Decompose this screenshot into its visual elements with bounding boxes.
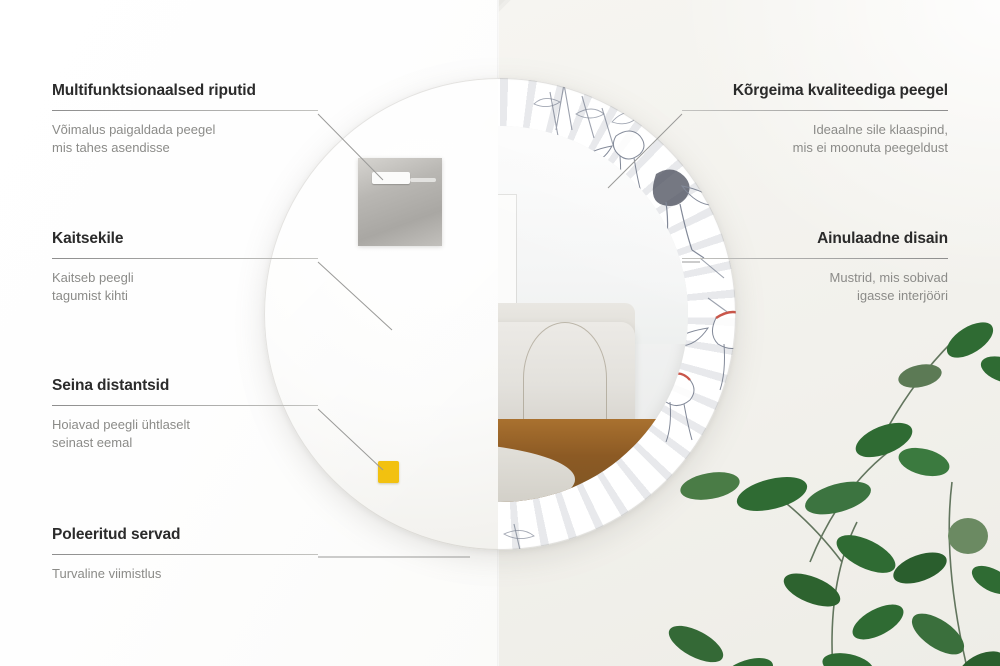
feature-desc-line1: Võimalus paigaldada peegel [52, 121, 318, 139]
feature-kaitsekile: Kaitsekile Kaitseb peegli tagumist kihti [52, 230, 318, 306]
feature-desc-line2: seinast eemal [52, 434, 318, 452]
feature-desc-line2: igasse interjööri [682, 287, 948, 305]
infographic-canvas: Multifunktsionaalsed riputid Võimalus pa… [0, 0, 1000, 666]
feature-rule [52, 110, 318, 111]
feature-title: Poleeritud servad [52, 526, 318, 545]
feature-desc-line1: Mustrid, mis sobivad [682, 269, 948, 287]
feature-desc-line1: Turvaline viimistlus [52, 565, 318, 583]
foliage-decoration [652, 322, 1000, 666]
feature-title: Kõrgeima kvaliteediga peegel [682, 82, 948, 101]
feature-korgeima-kvaliteediga-peegel: Kõrgeima kvaliteediga peegel Ideaalne si… [682, 82, 948, 158]
feature-title: Seina distantsid [52, 377, 318, 396]
feature-desc-line2: tagumist kihti [52, 287, 318, 305]
feature-rule [682, 258, 948, 259]
leaf-branches-icon [652, 322, 1000, 666]
feature-poleeritud-servad: Poleeritud servad Turvaline viimistlus [52, 526, 318, 583]
feature-title: Multifunktsionaalsed riputid [52, 82, 318, 101]
feature-title: Kaitsekile [52, 230, 318, 249]
feature-multifunktsionaalsed-riputid: Multifunktsionaalsed riputid Võimalus pa… [52, 82, 318, 158]
feature-title: Ainulaadne disain [682, 230, 948, 249]
feature-desc-line1: Ideaalne sile klaaspind, [682, 121, 948, 139]
feature-rule [682, 110, 948, 111]
feature-desc-line2: mis ei moonuta peegeldust [682, 139, 948, 157]
feature-desc-line2: mis tahes asendisse [52, 139, 318, 157]
feature-ainulaadne-disain: Ainulaadne disain Mustrid, mis sobivad i… [682, 230, 948, 306]
feature-rule [52, 258, 318, 259]
feature-desc-line1: Kaitseb peegli [52, 269, 318, 287]
feature-rule [52, 554, 318, 555]
hanger-keyhole-slot [372, 172, 410, 184]
hanger-plate-part [358, 158, 442, 246]
wall-spacer-part [378, 461, 399, 483]
feature-desc-line1: Hoiavad peegli ühtlaselt [52, 416, 318, 434]
feature-seina-distantsid: Seina distantsid Hoiavad peegli ühtlasel… [52, 377, 318, 453]
feature-rule [52, 405, 318, 406]
hanger-groove [410, 178, 436, 182]
